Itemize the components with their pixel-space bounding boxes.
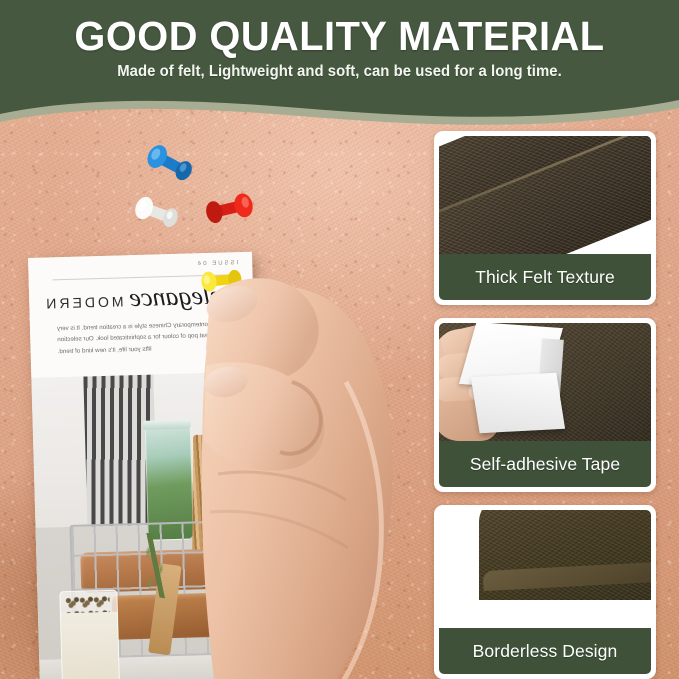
photo-seeds [65, 594, 109, 613]
feature-card-caption: Self-adhesive Tape [439, 441, 651, 487]
banner-shape [0, 0, 679, 150]
feature-card-caption: Borderless Design [439, 628, 651, 674]
product-feature-image: ISSUE 04 MODERN elegance Home is a conte… [0, 0, 679, 679]
feature-card-borderless-design[interactable]: Borderless Design [434, 505, 656, 679]
hand-pressing-pin [196, 262, 444, 679]
banner-fill [0, 0, 679, 117]
feature-card-list: Thick Felt Texture Self-adhesive Tape [434, 131, 656, 679]
hand-peeling-white-tape-image [439, 323, 651, 441]
white-tape-fold [471, 373, 565, 433]
header-banner: GOOD QUALITY MATERIAL Made of felt, Ligh… [0, 0, 679, 150]
feature-card-thick-felt-texture[interactable]: Thick Felt Texture [434, 131, 656, 305]
push-pin-white [128, 192, 190, 236]
feature-card-self-adhesive-tape[interactable]: Self-adhesive Tape [434, 318, 656, 492]
push-pin-red [198, 186, 262, 232]
feature-card-caption: Thick Felt Texture [439, 254, 651, 300]
photo-rosemary-sprig [128, 532, 183, 600]
felt-slab-closeup-image [439, 136, 651, 254]
poster-title-word: MODERN [43, 293, 124, 311]
rounded-felt-sheet-corner-image [439, 510, 651, 628]
photo-jar-lid [143, 420, 191, 430]
